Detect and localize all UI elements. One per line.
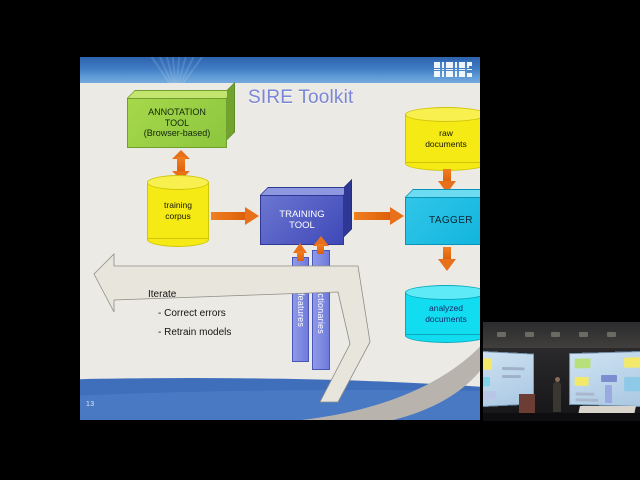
node-analyzed-documents[interactable]: analyzed documents xyxy=(405,285,480,343)
node-training-corpus[interactable]: training corpus xyxy=(147,175,209,247)
arrowhead-right-icon xyxy=(390,207,404,225)
node-raw-documents[interactable]: raw documents xyxy=(405,107,480,171)
arrowhead-right-icon xyxy=(245,207,259,225)
analyzed-documents-line1: analyzed xyxy=(429,303,463,314)
iterate-bullet-2: - Retrain models xyxy=(148,323,231,342)
features-label: features xyxy=(296,292,306,326)
arrow-training-tool-to-tagger xyxy=(354,207,404,225)
training-corpus-line1: training xyxy=(164,200,192,211)
slide-header-bar xyxy=(80,57,480,83)
training-tool-line2: TOOL xyxy=(289,220,315,231)
box-top-face xyxy=(260,187,352,195)
presentation-slide: SIRE Toolkit ANNOTATION TOOL (Browser-ba… xyxy=(80,57,480,420)
iterate-bullet-1: - Correct errors xyxy=(148,304,231,323)
box-top-face xyxy=(405,189,480,197)
video-frame: SIRE Toolkit ANNOTATION TOOL (Browser-ba… xyxy=(0,0,640,480)
cylinder-label: training corpus xyxy=(147,175,209,247)
box-side-face xyxy=(227,82,235,140)
arrow-shaft xyxy=(211,212,245,220)
node-annotation-tool[interactable]: ANNOTATION TOOL (Browser-based) xyxy=(127,90,235,148)
page-title: SIRE Toolkit xyxy=(248,87,354,109)
projection-screen-right xyxy=(569,351,640,408)
arrow-shaft xyxy=(317,244,324,254)
arrow-corpus-to-training-tool xyxy=(211,207,259,225)
arrow-tagger-to-analyzed-documents xyxy=(438,247,456,271)
tagger-label: TAGGER xyxy=(429,215,473,227)
box-front-face: TRAINING TOOL xyxy=(260,195,344,245)
box-top-face xyxy=(127,90,235,98)
annotation-tool-line2: TOOL xyxy=(165,118,189,129)
training-tool-line1: TRAINING xyxy=(279,209,324,220)
cylinder-label: raw documents xyxy=(405,107,480,171)
arrow-shaft xyxy=(354,212,390,220)
raw-documents-line2: documents xyxy=(425,139,467,150)
training-corpus-line2: corpus xyxy=(165,211,191,222)
speaker-video-overlay[interactable] xyxy=(482,322,640,421)
box-front-face: TAGGER xyxy=(405,197,480,245)
arrow-features-to-training-tool xyxy=(293,243,308,261)
presenter-figure xyxy=(553,382,561,412)
annotation-tool-line1: ANNOTATION xyxy=(148,107,206,118)
node-training-tool[interactable]: TRAINING TOOL xyxy=(260,187,352,245)
analyzed-documents-line2: documents xyxy=(425,314,467,325)
iterate-annotation-text: Iterate - Correct errors - Retrain model… xyxy=(148,285,231,342)
ibm-logo-icon xyxy=(434,62,472,77)
arrow-shaft xyxy=(297,251,304,261)
arrowhead-down-icon xyxy=(438,259,456,271)
slide-number: 13 xyxy=(86,401,94,408)
raw-documents-line1: raw xyxy=(439,128,453,139)
lecture-hall-floor xyxy=(483,413,640,421)
box-front-face: ANNOTATION TOOL (Browser-based) xyxy=(127,98,227,148)
lecture-hall-ceiling xyxy=(483,322,640,348)
annotation-tool-line3: (Browser-based) xyxy=(144,128,211,139)
iterate-heading: Iterate xyxy=(148,285,231,304)
box-side-face xyxy=(344,179,352,237)
node-tagger[interactable]: TAGGER xyxy=(405,189,480,245)
cylinder-label: analyzed documents xyxy=(405,285,480,343)
arrow-dictionaries-to-training-tool xyxy=(313,236,329,254)
